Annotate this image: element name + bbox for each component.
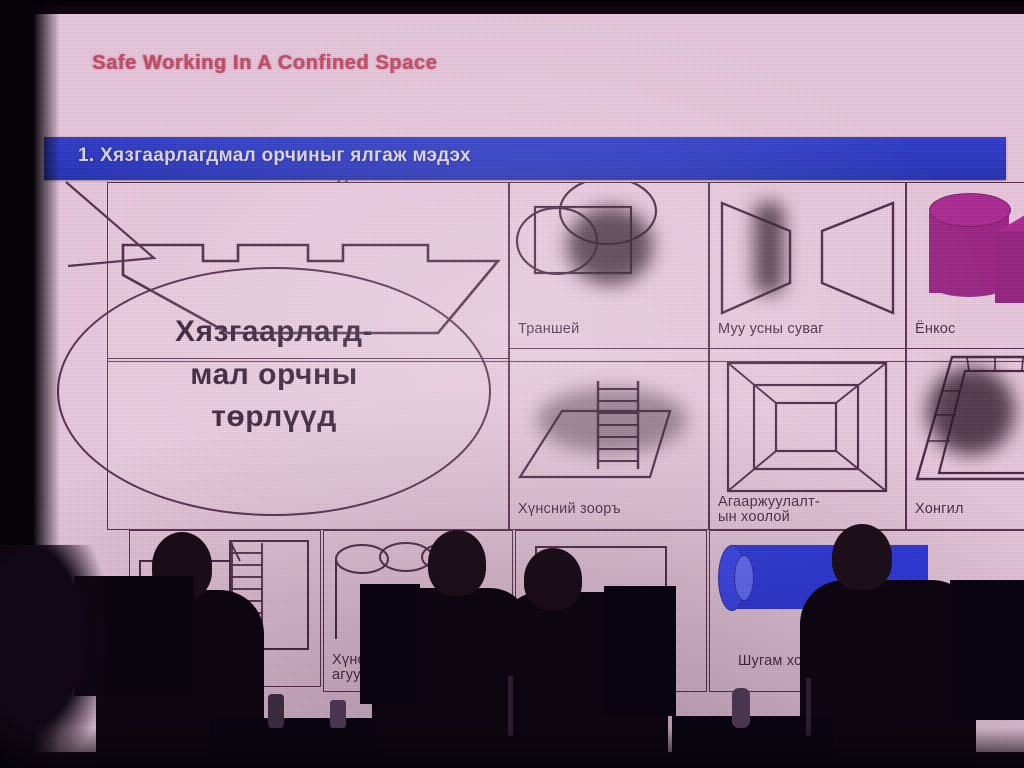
microphone-stand (508, 676, 513, 736)
foreground-shadow (0, 545, 110, 768)
grid-cell-label: Шугам хо (738, 654, 802, 669)
grid-cell-label: Ёнкос (915, 322, 956, 337)
person-head (524, 548, 582, 610)
water-glass (330, 700, 346, 728)
water-bottle (268, 694, 284, 728)
section-heading-band: 1. Хязгаарлагдмал орчиныг ялгаж мэдэх (44, 137, 1006, 180)
projection-artifact (927, 367, 1015, 455)
projection-artifact (567, 207, 653, 285)
speech-bubble-text: Хязгаарлагд- мал орчны төрлүүд (59, 311, 489, 439)
grid-cell-enkos: Ёнкос (906, 182, 1024, 362)
projection-artifact (537, 387, 687, 453)
grid-cell-ventilation-duct: Агааржуулалт- ын хоолой (709, 348, 906, 530)
chair-back (950, 580, 1024, 720)
photo-scene: Safe Working In A Confined Space 1. Хязг… (0, 0, 1024, 768)
grid-cell-label: Хонгил (915, 502, 964, 517)
section-heading-text: 1. Хязгаарлагдмал орчиныг ялгаж мэдэх (78, 145, 471, 167)
person-head (428, 530, 486, 596)
floor-shadow (0, 728, 1024, 768)
chair-back (360, 584, 420, 704)
slide-title: Safe Working In A Confined Space (92, 52, 437, 75)
grid-cell-label: Агааржуулалт- ын хоолой (718, 495, 820, 525)
screen-bezel-top-gradient (0, 0, 1024, 8)
person-head (832, 524, 892, 590)
grid-cell-label: Муу усны суваг (718, 322, 824, 337)
speech-bubble: Хязгаарлагд- мал орчны төрлүүд (57, 267, 491, 516)
grid-cell-label: Хүнсний зооръ (518, 502, 621, 517)
grid-cell-label: Траншей (518, 322, 579, 337)
grid-cell-sewer-channel: Муу усны суваг (709, 182, 906, 362)
chair-back (604, 586, 676, 716)
projection-artifact (754, 202, 784, 294)
water-bottle (732, 688, 750, 728)
